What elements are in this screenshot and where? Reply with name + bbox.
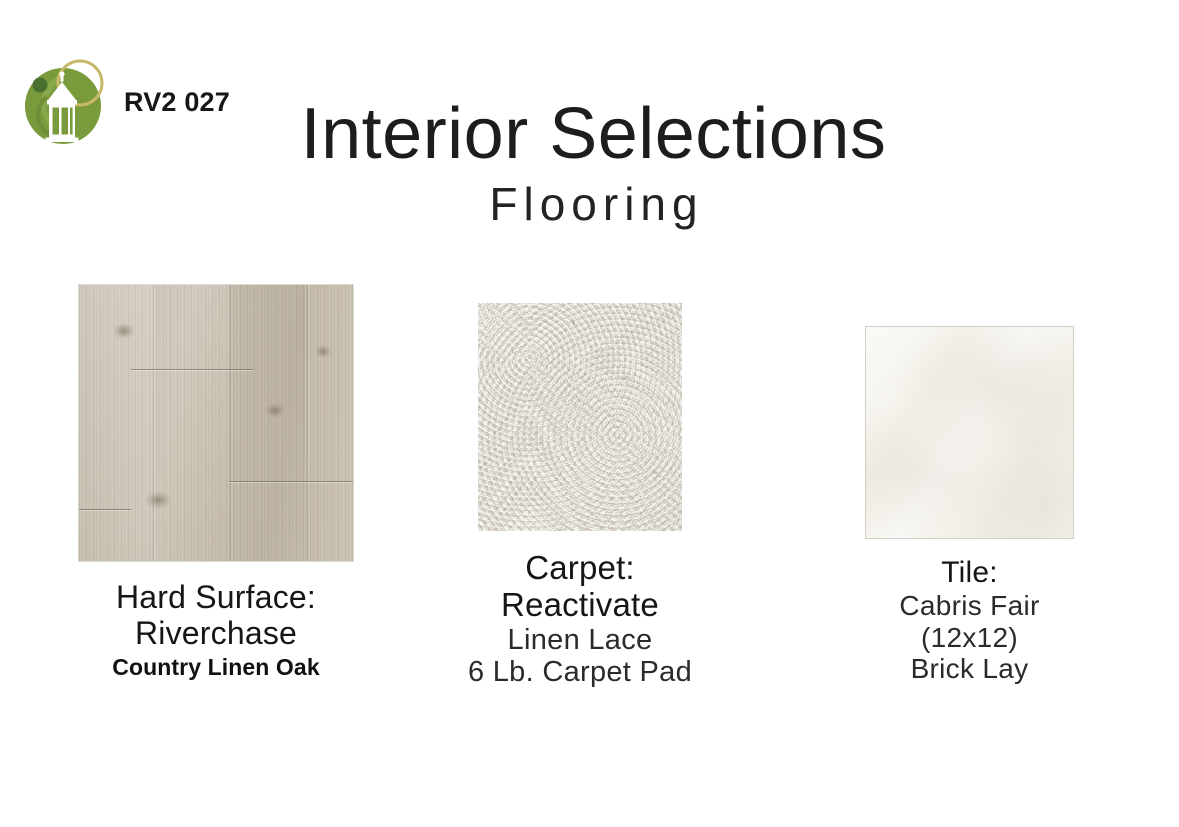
caption-line: Linen Lace: [400, 624, 760, 657]
slide-canvas: RV2 027 Interior Selections Flooring Har…: [0, 0, 1179, 827]
caption-line: Cabris Fair: [760, 590, 1179, 622]
sample-tile: Tile: Cabris Fair (12x12) Brick Lay: [760, 327, 1179, 685]
caption-line: Carpet:: [400, 549, 760, 586]
caption-line: (12x12): [760, 622, 1179, 654]
sample-carpet: Carpet: Reactivate Linen Lace 6 Lb. Carp…: [400, 303, 760, 689]
wood-plank-swatch: [79, 285, 353, 561]
flooring-samples: Hard Surface: Riverchase Country Linen O…: [0, 285, 1179, 755]
carpet-swatch: [478, 303, 682, 531]
caption-line: Reactivate: [400, 586, 760, 623]
caption-line: 6 Lb. Carpet Pad: [400, 656, 760, 689]
caption-line: Riverchase: [0, 615, 432, 651]
tile-swatch: [866, 327, 1073, 538]
caption-line: Hard Surface:: [0, 579, 432, 615]
sample-hard-surface: Hard Surface: Riverchase Country Linen O…: [0, 285, 432, 680]
caption-line: Country Linen Oak: [0, 654, 432, 680]
caption-carpet: Carpet: Reactivate Linen Lace 6 Lb. Carp…: [400, 549, 760, 689]
caption-line: Brick Lay: [760, 653, 1179, 685]
caption-line: Tile:: [760, 556, 1179, 590]
project-code: RV2 027: [124, 89, 230, 118]
caption-tile: Tile: Cabris Fair (12x12) Brick Lay: [760, 556, 1179, 685]
lantern-logo-icon: [14, 51, 118, 155]
brand-logo-block: RV2 027: [14, 44, 244, 162]
caption-hard-surface: Hard Surface: Riverchase Country Linen O…: [0, 579, 432, 680]
page-subtitle: Flooring: [14, 179, 1179, 230]
